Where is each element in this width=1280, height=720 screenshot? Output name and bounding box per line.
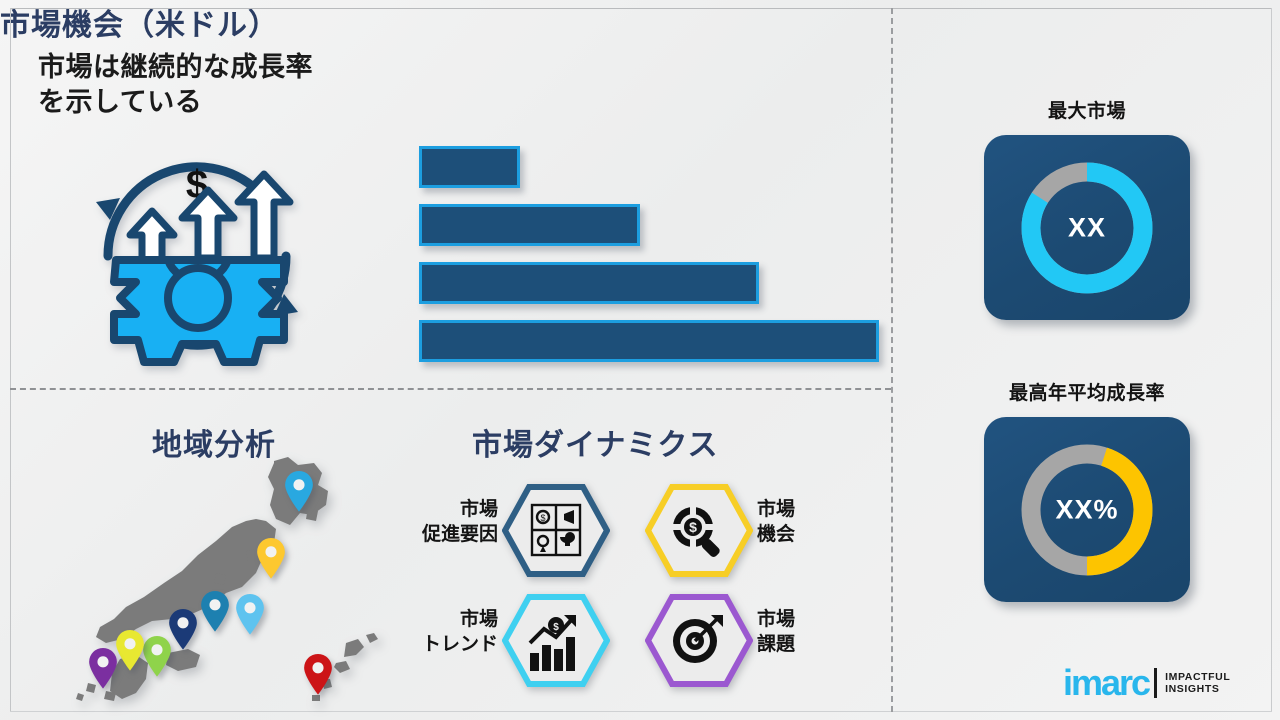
dynamics-label-market-drivers: 市場 促進要因 bbox=[422, 497, 498, 547]
dynamics-item-market-challenges[interactable]: 市場 課題 bbox=[645, 593, 855, 688]
puzzle-pieces-icon: $ bbox=[502, 483, 610, 578]
frame-bottom-border bbox=[10, 711, 1272, 712]
bar-chart bbox=[419, 146, 879, 361]
donut-caption-highest-cagr: 最高年平均成長率 bbox=[972, 378, 1202, 405]
svg-text:$: $ bbox=[540, 513, 545, 523]
donut-value-highest-cagr: XX% bbox=[984, 494, 1190, 525]
dynamics-item-market-opportunities[interactable]: 市場 機会 $ bbox=[645, 483, 855, 578]
bar-row-1 bbox=[419, 146, 520, 188]
dynamics-item-market-trends[interactable]: 市場 トレンド $ bbox=[400, 593, 610, 688]
pin-tohoku[interactable] bbox=[256, 537, 286, 580]
kpi-title: 市場は継続的な成長率 を示している bbox=[38, 50, 388, 119]
pin-kansai[interactable] bbox=[168, 608, 198, 651]
growth-gear-dollar-icon: $ bbox=[72, 140, 322, 372]
pin-hokkaido[interactable] bbox=[284, 470, 314, 513]
dynamics-label-market-opportunities: 市場 機会 bbox=[757, 497, 795, 547]
frame-top-border bbox=[10, 8, 1272, 9]
pin-kanto[interactable] bbox=[200, 590, 230, 633]
dynamics-label-market-trends: 市場 トレンド bbox=[422, 607, 498, 657]
dynamics-item-market-drivers[interactable]: 市場 促進要因 $ bbox=[400, 483, 610, 578]
logo-wordmark: imarc bbox=[1063, 665, 1149, 701]
dynamics-label-market-challenges: 市場 課題 bbox=[757, 607, 795, 657]
magnifier-dollar-icon: $ bbox=[645, 483, 753, 578]
svg-text:$: $ bbox=[553, 622, 559, 633]
imarc-logo: imarc IMPACTFUL INSIGHTS bbox=[1063, 665, 1230, 701]
market-dynamics-title: 市場ダイナミクス bbox=[472, 420, 719, 464]
growth-bar-chart-icon: $ bbox=[502, 593, 610, 688]
donut-card-largest-market: XX bbox=[984, 135, 1190, 320]
pin-chubu[interactable] bbox=[235, 593, 265, 636]
donut-value-largest-market: XX bbox=[984, 212, 1190, 243]
bar-row-4 bbox=[419, 320, 879, 362]
logo-tagline-line1: IMPACTFUL bbox=[1165, 671, 1230, 683]
pin-chugoku[interactable] bbox=[142, 635, 172, 678]
logo-tagline-line2: INSIGHTS bbox=[1165, 683, 1230, 695]
donut-caption-largest-market: 最大市場 bbox=[972, 96, 1202, 123]
svg-text:$: $ bbox=[689, 519, 697, 535]
target-arrow-icon bbox=[645, 593, 753, 688]
vertical-divider bbox=[891, 8, 893, 712]
logo-divider bbox=[1154, 668, 1157, 698]
bar-row-3 bbox=[419, 262, 759, 304]
frame-left-border bbox=[10, 8, 11, 712]
pin-kyushu[interactable] bbox=[115, 629, 145, 672]
bar-row-2 bbox=[419, 204, 640, 246]
donut-block-highest-cagr: 最高年平均成長率 XX% bbox=[972, 378, 1202, 602]
donut-block-largest-market: 最大市場 XX bbox=[972, 96, 1202, 320]
region-map-container bbox=[60, 455, 390, 705]
pin-okinawa[interactable] bbox=[303, 653, 333, 696]
slide-canvas: 市場は継続的な成長率 を示している $ 市場機会（米ドル） 地域分析 bbox=[0, 0, 1280, 720]
bar-chart-title: 市場機会（米ドル） bbox=[0, 0, 1280, 44]
logo-tagline: IMPACTFUL INSIGHTS bbox=[1165, 671, 1230, 696]
donut-card-highest-cagr: XX% bbox=[984, 417, 1190, 602]
pin-shikoku[interactable] bbox=[88, 647, 118, 690]
frame-right-border bbox=[1271, 8, 1272, 712]
horizontal-divider bbox=[10, 388, 891, 390]
